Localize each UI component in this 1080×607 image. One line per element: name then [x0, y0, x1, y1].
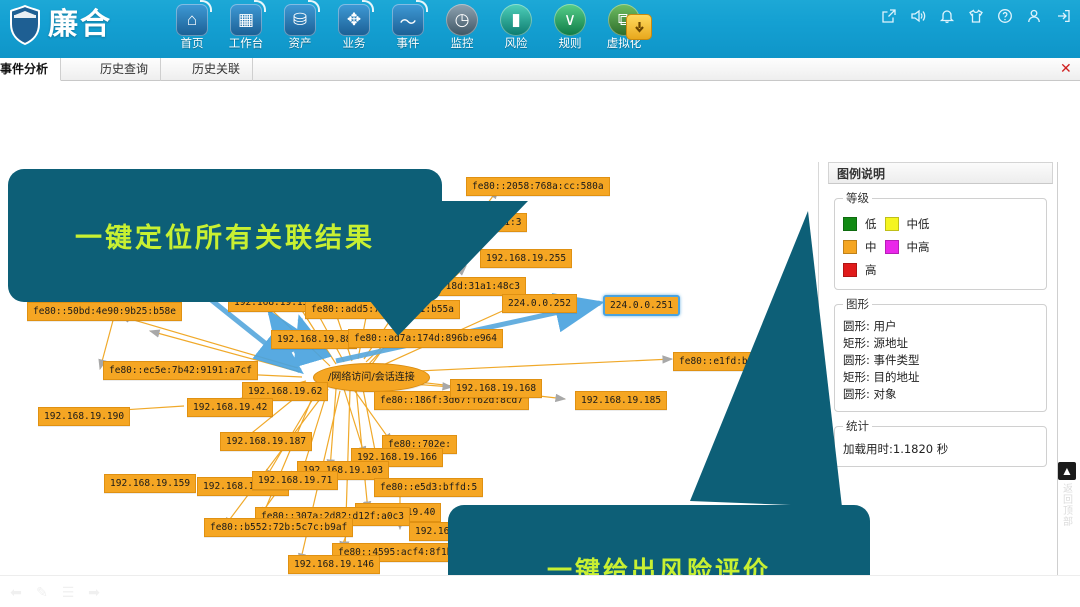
graph-node[interactable]: fe80::50bd:4e90:9b25:b58e	[27, 302, 182, 321]
legend-shape-row: 圆形: 用户	[843, 318, 1038, 335]
legend-shapes-group: 图形 圆形: 用户 矩形: 源地址 圆形: 事件类型 矩形: 目的地址 圆形: …	[834, 296, 1047, 412]
legend-label-medium: 中	[865, 239, 877, 255]
bell-icon[interactable]	[939, 8, 956, 25]
legend-label-medium-high: 中高	[907, 239, 930, 255]
nav-item-rules[interactable]: ∨ 规则	[544, 2, 596, 50]
tab-event-analysis[interactable]: 事件分析	[0, 58, 61, 81]
nav-item-monitor[interactable]: ◷ 监控	[436, 2, 488, 50]
graph-node[interactable]: 192.168.19.146	[288, 555, 380, 574]
nav-label: 规则	[544, 37, 596, 50]
monitor-icon: ◷	[446, 4, 478, 36]
legend-label-high: 高	[865, 262, 877, 278]
legend-stats-group: 统计 加载用时:1.1820 秒	[834, 418, 1047, 467]
legend-level-row: 高	[843, 258, 1038, 281]
help-icon[interactable]	[997, 8, 1014, 25]
nav-label: 事件	[382, 37, 434, 50]
bottom-toolbar: ⬅ ✎ ☰ ➡	[0, 575, 1080, 607]
graph-node[interactable]: fe80::2058:768a:cc:580a	[466, 177, 610, 196]
rules-icon: ∨	[554, 4, 586, 36]
callout-2-tail	[690, 211, 850, 521]
right-divider	[1057, 162, 1058, 575]
legend-label-low: 低	[865, 216, 877, 232]
nav-label: 资产	[274, 37, 326, 50]
application-window: 廉合 ⌂ 首页 ▦ 工作台 ⛁ 资产 ✥ 业务 〜 事件	[0, 0, 1080, 607]
main-nav: ⌂ 首页 ▦ 工作台 ⛁ 资产 ✥ 业务 〜 事件 ◷ 监控	[166, 2, 650, 50]
legend-shape-row: 矩形: 目的地址	[843, 369, 1038, 386]
arrow-up-icon[interactable]: ▲	[1058, 462, 1076, 480]
user-icon[interactable]	[1026, 8, 1043, 25]
business-icon: ✥	[338, 4, 370, 36]
legend-shape-row: 圆形: 事件类型	[843, 352, 1038, 369]
nav-item-home[interactable]: ⌂ 首页	[166, 2, 218, 50]
sound-icon[interactable]	[910, 8, 927, 25]
app-header: 廉合 ⌂ 首页 ▦ 工作台 ⛁ 资产 ✥ 业务 〜 事件	[0, 0, 1080, 58]
back-arrow-icon[interactable]: ⬅	[8, 584, 24, 600]
tab-bar: 事件分析 历史查询 历史关联	[0, 58, 1080, 81]
close-icon[interactable]: ✕	[1060, 62, 1074, 76]
logo-text: 廉合	[48, 3, 112, 47]
main-canvas: /网络访问/会话连接 192.168.19.14 fe80::5a8:23ed:…	[0, 81, 1080, 575]
nav-item-workbench[interactable]: ▦ 工作台	[220, 2, 272, 50]
nav-label: 风险	[490, 37, 542, 50]
nav-item-events[interactable]: 〜 事件	[382, 2, 434, 50]
download-arrow-icon[interactable]	[626, 14, 652, 40]
nav-item-assets[interactable]: ⛁ 资产	[274, 2, 326, 50]
graph-node[interactable]: 192.168.19.71	[252, 471, 338, 490]
nav-label: 首页	[166, 37, 218, 50]
logout-icon[interactable]	[1055, 8, 1072, 25]
graph-node[interactable]: fe80::b552:72b:5c7c:b9af	[204, 518, 353, 537]
graph-node[interactable]: 192.168.19.190	[38, 407, 130, 426]
workbench-icon: ▦	[230, 4, 262, 36]
graph-node[interactable]: 192.168.19.168	[450, 379, 542, 398]
assets-icon: ⛁	[284, 4, 316, 36]
legend-level-group: 等级 低 中低 中 中高 高	[834, 190, 1047, 290]
graph-node[interactable]: 192.168.19.42	[187, 398, 273, 417]
legend-panel-title: 图例说明	[828, 162, 1053, 184]
external-link-icon[interactable]	[881, 8, 898, 25]
nav-item-business[interactable]: ✥ 业务	[328, 2, 380, 50]
legend-shape-row: 矩形: 源地址	[843, 335, 1038, 352]
graph-node[interactable]: fe80::ec5e:7b42:9191:a7cf	[103, 361, 258, 380]
nav-label: 业务	[328, 37, 380, 50]
list-icon[interactable]: ☰	[60, 584, 76, 600]
graph-node[interactable]: fe80::e5d3:bffd:5	[374, 478, 483, 497]
shield-icon	[8, 4, 42, 46]
graph-node[interactable]: 192.168.19.187	[220, 432, 312, 451]
legend-label-medium-low: 中低	[907, 216, 930, 232]
back-to-top-label: 返回顶部	[1062, 484, 1074, 528]
logo[interactable]: 廉合	[8, 3, 112, 47]
pencil-icon[interactable]: ✎	[34, 584, 50, 600]
graph-node[interactable]: 192.168.19.185	[575, 391, 667, 410]
nav-label: 监控	[436, 37, 488, 50]
nav-label: 工作台	[220, 37, 272, 50]
legend-level-row: 低 中低	[843, 212, 1038, 235]
graph-node[interactable]: 224.0.0.251	[603, 295, 680, 316]
swatch-medium-low	[885, 217, 899, 231]
legend-shape-row: 圆形: 对象	[843, 386, 1038, 403]
tab-history-query[interactable]: 历史查询	[88, 58, 161, 81]
nav-item-risk[interactable]: ▮ 风险	[490, 2, 542, 50]
risk-icon: ▮	[500, 4, 532, 36]
graph-center-node[interactable]: /网络访问/会话连接	[313, 363, 430, 392]
swatch-medium-high	[885, 240, 899, 254]
events-icon: 〜	[392, 4, 424, 36]
forward-arrow-icon[interactable]: ➡	[86, 584, 102, 600]
legend-level-title: 等级	[843, 190, 872, 206]
legend-level-row: 中 中高	[843, 235, 1038, 258]
legend-stat-load-time: 加载用时:1.1820 秒	[843, 440, 1038, 458]
shirt-icon[interactable]	[968, 8, 985, 25]
tab-history-correlation[interactable]: 历史关联	[180, 58, 253, 81]
graph-node[interactable]: 192.168.19.159	[104, 474, 196, 493]
home-icon: ⌂	[176, 4, 208, 36]
callout-locate-results: 一键定位所有关联结果	[8, 169, 442, 302]
header-tools	[881, 8, 1072, 25]
callout-risk-evaluation: 一键给出风险评价	[448, 505, 870, 575]
